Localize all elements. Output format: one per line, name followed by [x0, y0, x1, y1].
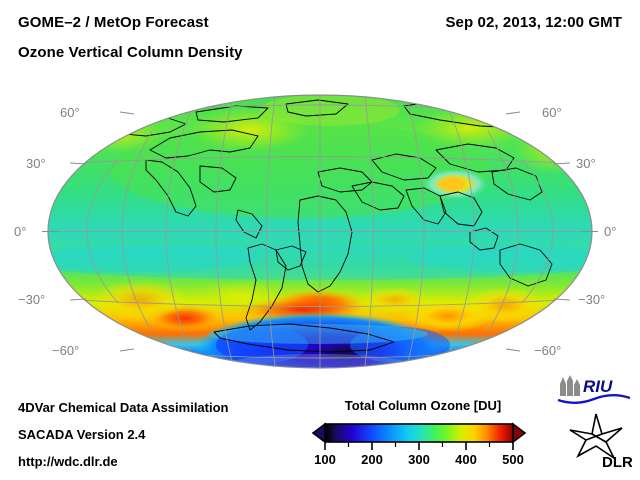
- colorbar-tick-200: 200: [361, 452, 383, 467]
- lat-label-right-m60: −60°: [534, 343, 561, 358]
- colorbar-tick-300: 300: [408, 452, 430, 467]
- riu-wordmark: RIU: [583, 377, 613, 396]
- lat-label-left-60: 60°: [60, 105, 80, 120]
- footer-line-2: SACADA Version 2.4: [18, 427, 145, 442]
- colorbar: [305, 418, 545, 454]
- footer-line-1: 4DVar Chemical Data Assimilation: [18, 400, 229, 415]
- colorbar-tick-100: 100: [314, 452, 336, 467]
- colorbar-cap-high: [513, 424, 525, 442]
- colorbar-title: Total Column Ozone [DU]: [313, 398, 533, 413]
- colorbar-ticks: [325, 442, 513, 450]
- colorbar-cap-low: [313, 424, 325, 442]
- dlr-wordmark: DLR: [602, 454, 632, 470]
- lat-label-left-m30: −30°: [18, 292, 45, 307]
- footer-line-3[interactable]: http://wdc.dlr.de: [18, 454, 118, 469]
- lat-label-right-60: 60°: [542, 105, 562, 120]
- riu-logo: RIU: [556, 374, 632, 408]
- colorbar-tick-400: 400: [455, 452, 477, 467]
- riu-swoosh-icon: [558, 395, 630, 403]
- riu-towers-icon: [560, 375, 580, 396]
- lat-label-left-30: 30°: [26, 156, 46, 171]
- ozone-map: 60° 30° 0° −30° −60° 60° 30° 0° −30° −60…: [0, 0, 640, 400]
- map-canvas: [0, 0, 640, 400]
- dlr-star-icon: [570, 414, 622, 458]
- lat-label-right-0: 0°: [604, 224, 616, 239]
- lat-label-right-30: 30°: [576, 156, 596, 171]
- lat-label-right-m30: −30°: [578, 292, 605, 307]
- colorbar-gradient: [325, 424, 513, 442]
- lat-label-left-m60: −60°: [52, 343, 79, 358]
- colorbar-tick-500: 500: [502, 452, 524, 467]
- dlr-logo: DLR: [566, 412, 632, 470]
- lat-label-left-0: 0°: [14, 224, 26, 239]
